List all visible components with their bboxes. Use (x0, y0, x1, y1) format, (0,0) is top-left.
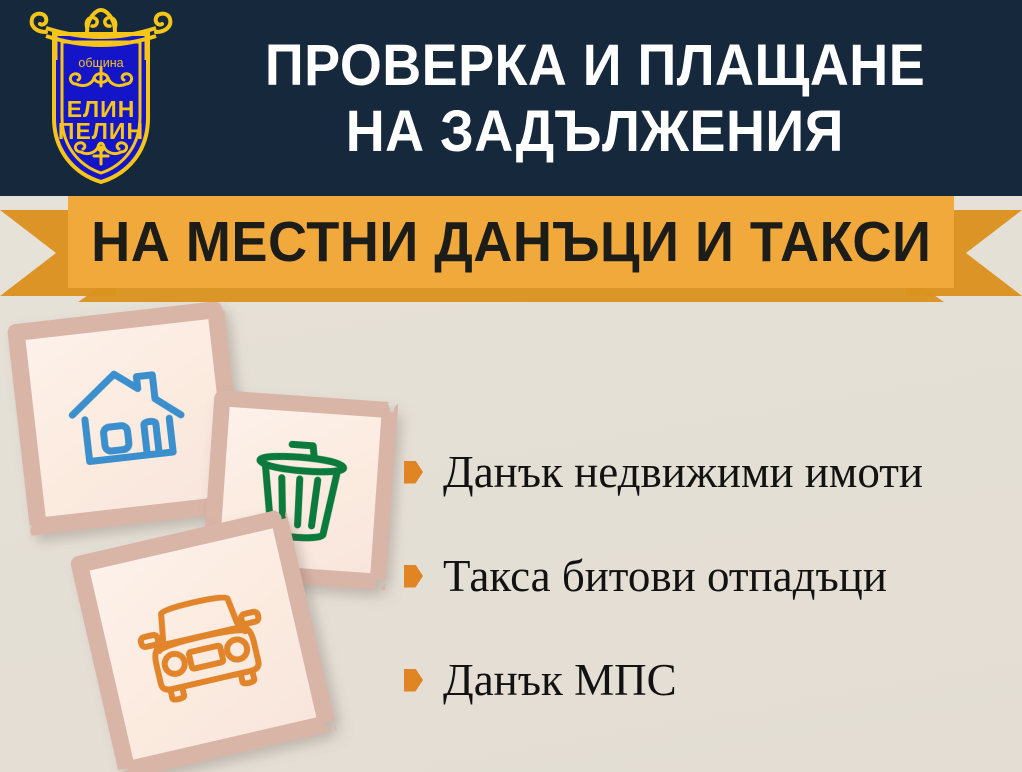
arrow-bullet-icon (404, 669, 423, 692)
ribbon-body: НА МЕСТНИ ДАНЪЦИ И ТАКСИ (68, 196, 954, 288)
list-item-label: Данък недвижими имоти (443, 447, 923, 497)
arrow-bullet-icon (404, 461, 423, 484)
car-icon (129, 578, 278, 710)
coat-of-arms-icon: община ЕЛИН ПЕЛИН (26, 6, 176, 188)
list-item[interactable]: Данък недвижими имоти (404, 420, 1004, 524)
house-icon (61, 359, 192, 478)
tax-type-list: Данък недвижими имоти Такса битови отпад… (404, 420, 1004, 732)
municipality-logo: община ЕЛИН ПЕЛИН (26, 6, 176, 188)
list-item[interactable]: Данък МПС (404, 628, 1004, 732)
list-item[interactable]: Такса битови отпадъци (404, 524, 1004, 628)
list-item-label: Данък МПС (443, 655, 677, 705)
stamp-paper (26, 319, 229, 517)
arrow-bullet-icon (404, 565, 423, 588)
logo-label-line2: ПЕЛИН (58, 118, 144, 144)
list-item-label: Такса битови отпадъци (443, 551, 887, 601)
header-title: ПРОВЕРКА И ПЛАЩАНЕ НА ЗАДЪЛЖЕНИЯ (182, 14, 1008, 184)
poster-canvas: община ЕЛИН ПЕЛИН (0, 0, 1022, 772)
ribbon-text: НА МЕСТНИ ДАНЪЦИ И ТАКСИ (91, 212, 931, 272)
subtitle-ribbon: НА МЕСТНИ ДАНЪЦИ И ТАКСИ (0, 188, 1022, 306)
header-title-line-2: НА ЗАДЪЛЖЕНИЯ (346, 99, 844, 165)
header-title-line-1: ПРОВЕРКА И ПЛАЩАНЕ (265, 33, 925, 99)
